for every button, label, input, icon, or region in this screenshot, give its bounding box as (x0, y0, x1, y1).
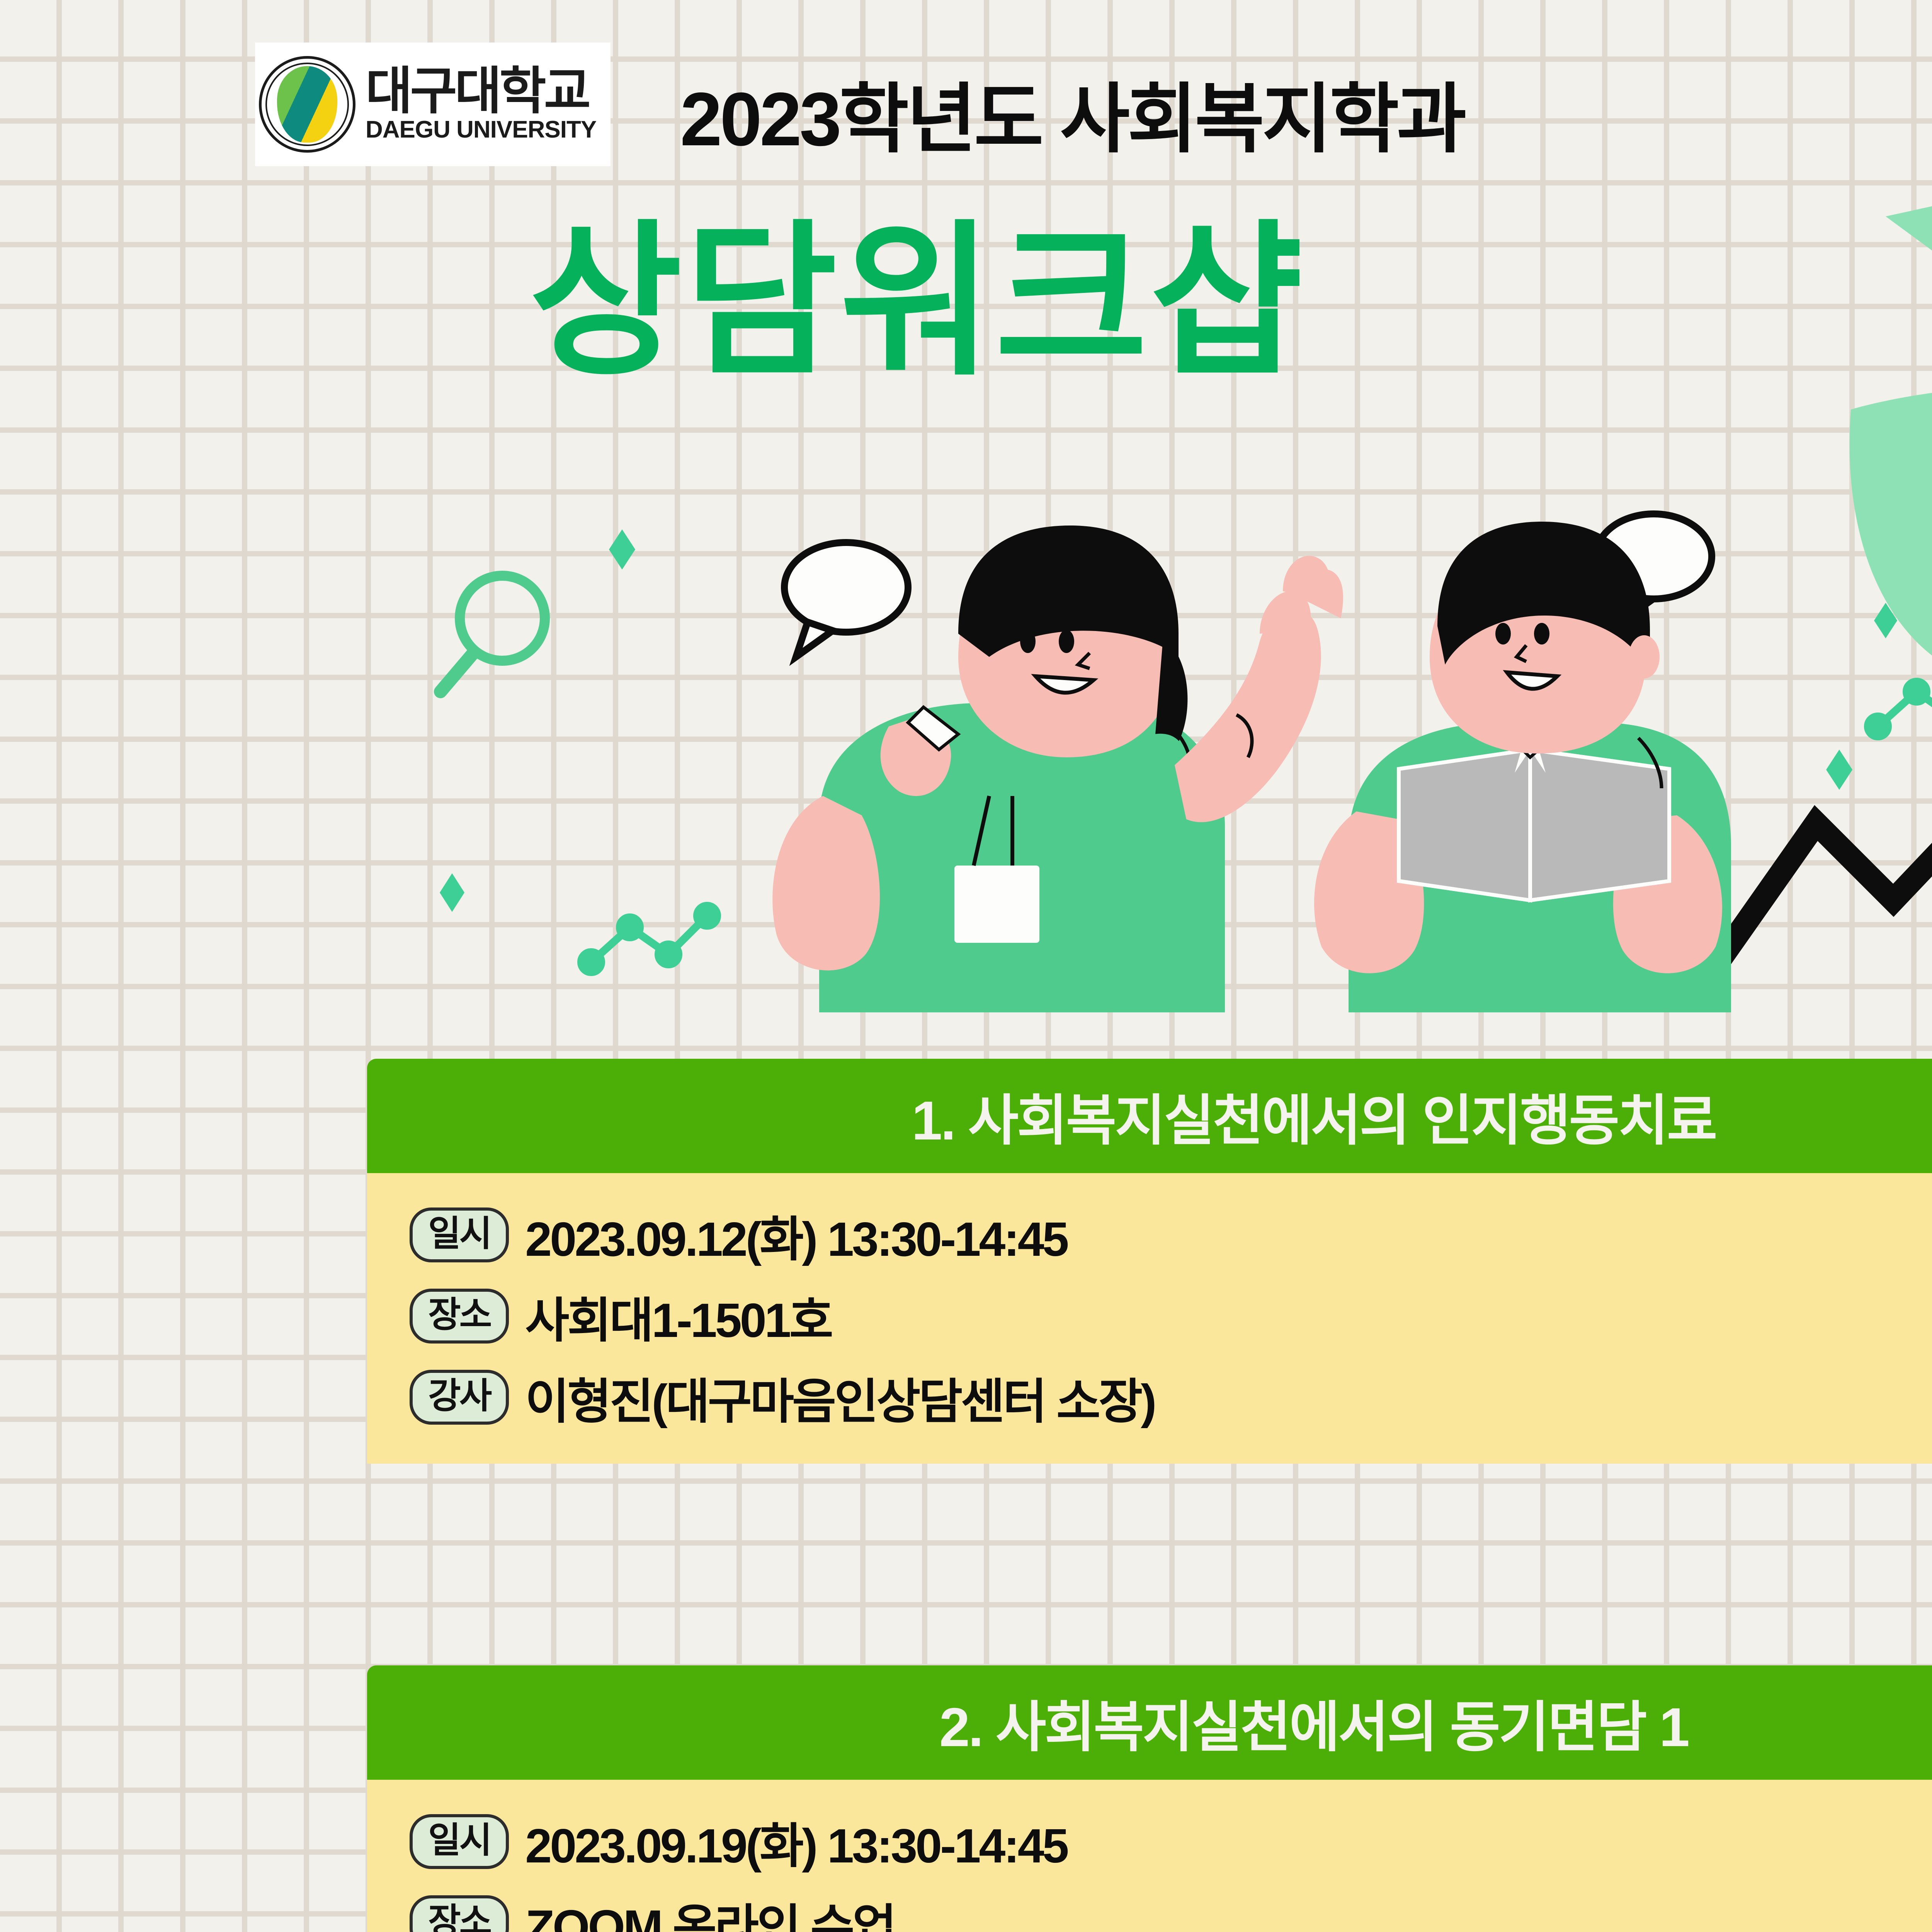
poster-canvas: 대구대학교 DAEGU UNIVERSITY University innova… (0, 0, 1932, 1932)
character-male-illustration (1314, 522, 1731, 1012)
daegu-university-logo: 대구대학교 DAEGU UNIVERSITY (255, 43, 611, 166)
speech-bubble-left (784, 543, 908, 657)
place-label-chip: 장소 (410, 1895, 509, 1932)
daegu-university-korean-name: 대구대학교 (366, 66, 596, 117)
pie-chart-decoration (1850, 162, 1932, 688)
session-2-heading: 2. 사회복지실천에서의 동기면담 1 (367, 1665, 1932, 1780)
session-2-place-row: 장소 ZOOM 온라인 수업 (410, 1888, 1932, 1932)
daegu-university-english-name: DAEGU UNIVERSITY (366, 117, 596, 143)
daegu-university-seal-icon (259, 56, 355, 153)
speech-bubble-right (1596, 514, 1712, 626)
session-2-datetime-value: 2023.09.19(화) 13:30-14:45 (525, 1807, 1067, 1876)
session-1-datetime-value: 2023.09.12(화) 13:30-14:45 (525, 1200, 1067, 1270)
session-1-heading: 1. 사회복지실천에서의 인지행동치료 (367, 1059, 1932, 1173)
daegu-university-wordmark: 대구대학교 DAEGU UNIVERSITY (366, 66, 596, 143)
session-card-2: 2. 사회복지실천에서의 동기면담 1 일시 2023.09.19(화) 13:… (367, 1665, 1932, 1932)
session-1-place-value: 사회대1-1501호 (525, 1281, 831, 1351)
session-1-instructor-row: 강사 이형진(대구마음인상담센터 소장) (410, 1362, 1932, 1432)
session-2-place-value: ZOOM 온라인 수업 (525, 1888, 895, 1932)
session-card-1: 1. 사회복지실천에서의 인지행동치료 일시 2023.09.12(화) 13:… (367, 1059, 1932, 1464)
poster-main-title: 상담워크샵 (529, 166, 1305, 407)
instructor-label-chip: 강사 (410, 1370, 509, 1425)
session-2-datetime-row: 일시 2023.09.19(화) 13:30-14:45 (410, 1807, 1932, 1876)
place-label-chip: 장소 (410, 1289, 509, 1344)
datetime-label-chip: 일시 (410, 1814, 509, 1869)
session-1-instructor-value: 이형진(대구마음인상담센터 소장) (525, 1362, 1155, 1432)
line-chart-decoration-left (581, 906, 717, 972)
session-1-datetime-row: 일시 2023.09.12(화) 13:30-14:45 (410, 1200, 1932, 1270)
datetime-label-chip: 일시 (410, 1207, 509, 1262)
growth-arrow-icon (1716, 750, 1932, 966)
character-female-illustration (772, 526, 1343, 1012)
magnifier-icon (440, 576, 545, 692)
poster-subtitle: 2023학년도 사회복지학과 (680, 58, 1464, 167)
line-chart-decoration-right (1868, 670, 1932, 736)
sparkle-icons (440, 529, 1897, 912)
session-1-place-row: 장소 사회대1-1501호 (410, 1281, 1932, 1351)
session-1-details: 일시 2023.09.12(화) 13:30-14:45 장소 사회대1-150… (367, 1173, 1932, 1464)
session-2-details: 일시 2023.09.19(화) 13:30-14:45 장소 ZOOM 온라인… (367, 1780, 1932, 1932)
